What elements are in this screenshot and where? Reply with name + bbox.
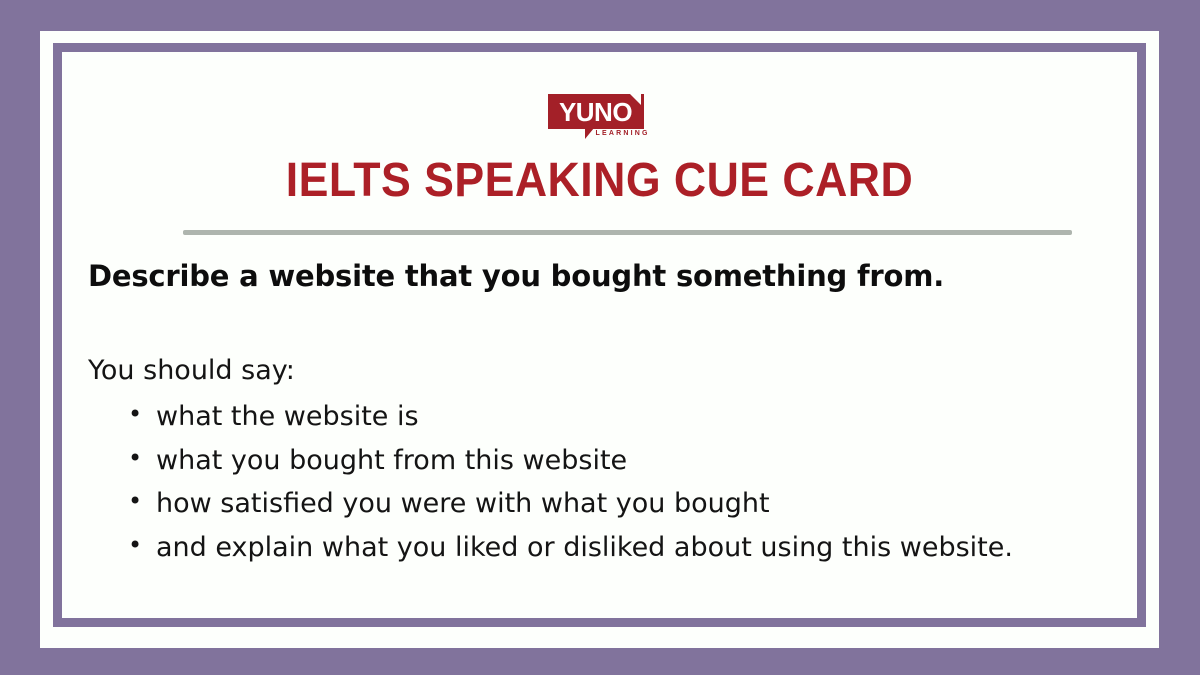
lead-in-text: You should say: <box>88 355 295 387</box>
list-item: what you bought from this website <box>150 439 1137 483</box>
list-item: what the website is <box>150 395 1137 439</box>
cue-card-content: YUNO LEARNING IELTS SPEAKING CUE CARD De… <box>62 52 1137 618</box>
logo-wordmark: YUNO <box>548 94 644 129</box>
cue-card-bullet-list: what the website is what you bought from… <box>88 395 1137 570</box>
list-item: how satisfied you were with what you bou… <box>150 482 1137 526</box>
logo-area: YUNO LEARNING <box>62 94 1137 146</box>
list-item: and explain what you liked or disliked a… <box>150 526 1137 570</box>
title-divider <box>183 230 1072 235</box>
logo-speech-tail-icon <box>585 128 594 139</box>
cue-card-slide: YUNO LEARNING IELTS SPEAKING CUE CARD De… <box>0 0 1200 675</box>
logo-tagline: LEARNING <box>596 130 650 137</box>
cue-card-prompt: Describe a website that you bought somet… <box>88 259 1108 294</box>
yuno-learning-logo: YUNO LEARNING <box>548 94 652 144</box>
page-title: IELTS SPEAKING CUE CARD <box>100 155 1100 208</box>
